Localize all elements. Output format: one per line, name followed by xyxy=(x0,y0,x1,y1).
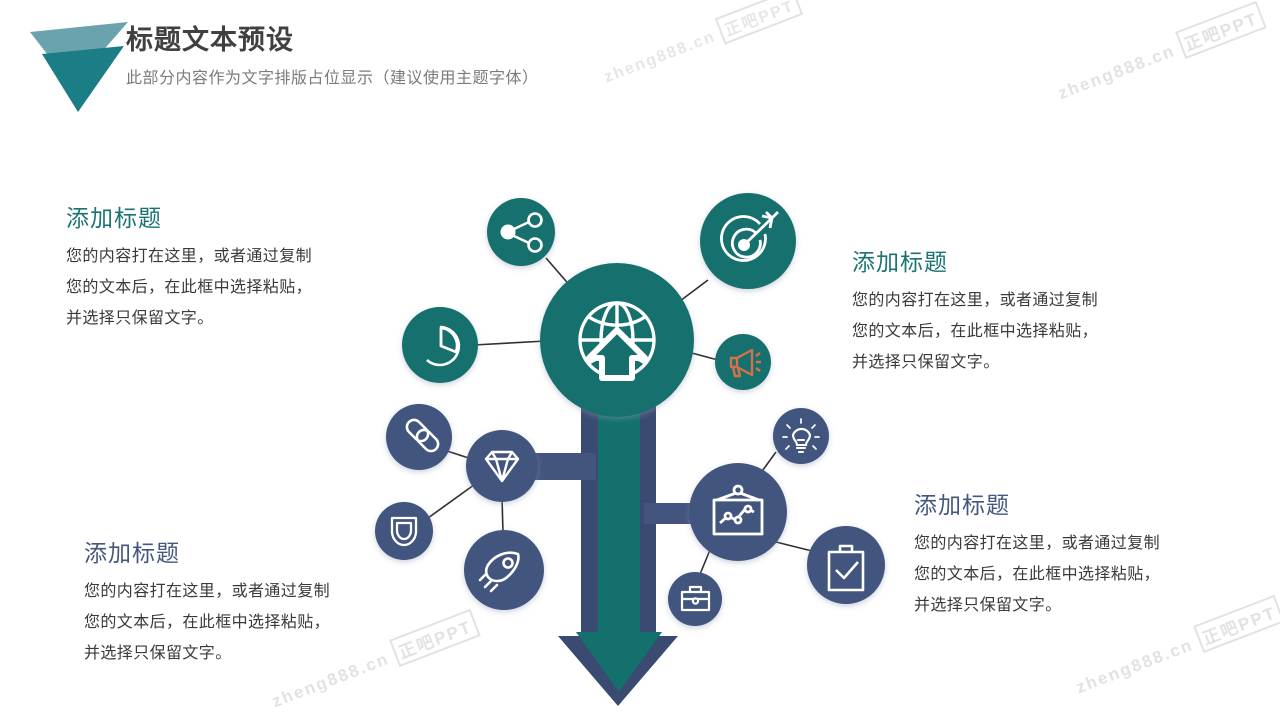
body-line-2: 您的文本后，在此框中选择粘贴， xyxy=(852,323,1098,340)
rocket-icon xyxy=(480,553,518,591)
page-subtitle: 此部分内容作为文字排版占位显示（建议使用主题字体） xyxy=(126,66,539,92)
briefcase-icon xyxy=(682,587,709,610)
node-pie-chart[interactable] xyxy=(402,307,478,383)
diamond-icon xyxy=(486,452,518,481)
target-bullseye-icon xyxy=(721,212,778,261)
node-lightbulb[interactable] xyxy=(773,408,829,464)
body-line-3: 并选择只保留文字。 xyxy=(84,645,232,662)
teal-trunk-arrow xyxy=(576,380,662,692)
body-line-1: 您的内容打在这里，或者通过复制 xyxy=(852,292,1098,309)
share-nodes-icon xyxy=(501,214,542,252)
watermark-text: zheng888.cn xyxy=(1073,635,1196,697)
chart-sign-icon xyxy=(714,486,762,534)
node-center-globe[interactable] xyxy=(540,263,694,417)
node-megaphone[interactable] xyxy=(715,334,771,390)
text-block-top-left: 添加标题 您的内容打在这里，或者通过复制 您的文本后，在此框中选择粘贴， 并选择… xyxy=(66,203,406,334)
upload-arrow-icon xyxy=(589,330,645,378)
navy-branch-arms xyxy=(500,453,740,524)
block-body: 您的内容打在这里，或者通过复制 您的文本后，在此框中选择粘贴， 并选择只保留文字… xyxy=(914,528,1244,621)
node-chain-link[interactable] xyxy=(386,404,452,470)
megaphone-icon xyxy=(731,350,761,376)
slide-canvas: 标题文本预设 此部分内容作为文字排版占位显示（建议使用主题字体） xyxy=(0,0,1280,720)
body-line-2: 您的文本后，在此框中选择粘贴， xyxy=(84,614,330,631)
title-block: 标题文本预设 此部分内容作为文字排版占位显示（建议使用主题字体） xyxy=(126,22,539,92)
body-line-2: 您的文本后，在此框中选择粘贴， xyxy=(914,566,1160,583)
body-line-2: 您的文本后，在此框中选择粘贴， xyxy=(66,279,312,296)
chain-link-icon xyxy=(407,420,438,451)
page-title: 标题文本预设 xyxy=(126,22,539,58)
body-line-3: 并选择只保留文字。 xyxy=(66,310,214,327)
node-chart-sign[interactable] xyxy=(689,463,787,561)
node-clipboard-check[interactable] xyxy=(807,526,885,604)
node-rocket[interactable] xyxy=(464,530,544,610)
body-line-1: 您的内容打在这里，或者通过复制 xyxy=(66,248,312,265)
block-heading: 添加标题 xyxy=(66,203,406,233)
body-line-3: 并选择只保留文字。 xyxy=(914,597,1062,614)
node-diamond[interactable] xyxy=(466,430,538,502)
node-share[interactable] xyxy=(487,198,555,266)
pie-chart-icon xyxy=(427,327,459,365)
double-arrow-logo-icon xyxy=(22,8,140,116)
block-body: 您的内容打在这里，或者通过复制 您的文本后，在此框中选择粘贴， 并选择只保留文字… xyxy=(66,241,406,334)
block-heading: 添加标题 xyxy=(852,247,1202,277)
block-heading: 添加标题 xyxy=(914,490,1244,520)
clipboard-check-icon xyxy=(829,546,863,590)
body-line-1: 您的内容打在这里，或者通过复制 xyxy=(84,583,330,600)
lightbulb-icon xyxy=(783,419,819,452)
globe-upload-icon xyxy=(580,303,654,377)
text-block-top-right: 添加标题 您的内容打在这里，或者通过复制 您的文本后，在此框中选择粘贴， 并选择… xyxy=(852,247,1202,378)
text-block-bottom-right: 添加标题 您的内容打在这里，或者通过复制 您的文本后，在此框中选择粘贴， 并选择… xyxy=(914,490,1244,621)
block-heading: 添加标题 xyxy=(84,538,424,568)
navy-trunk-arrow xyxy=(558,396,678,706)
body-line-1: 您的内容打在这里，或者通过复制 xyxy=(914,535,1160,552)
node-briefcase[interactable] xyxy=(668,572,722,626)
connector-lines xyxy=(428,258,816,584)
block-body: 您的内容打在这里，或者通过复制 您的文本后，在此框中选择粘贴， 并选择只保留文字… xyxy=(852,285,1202,378)
node-target[interactable] xyxy=(700,193,796,289)
body-line-3: 并选择只保留文字。 xyxy=(852,354,1000,371)
